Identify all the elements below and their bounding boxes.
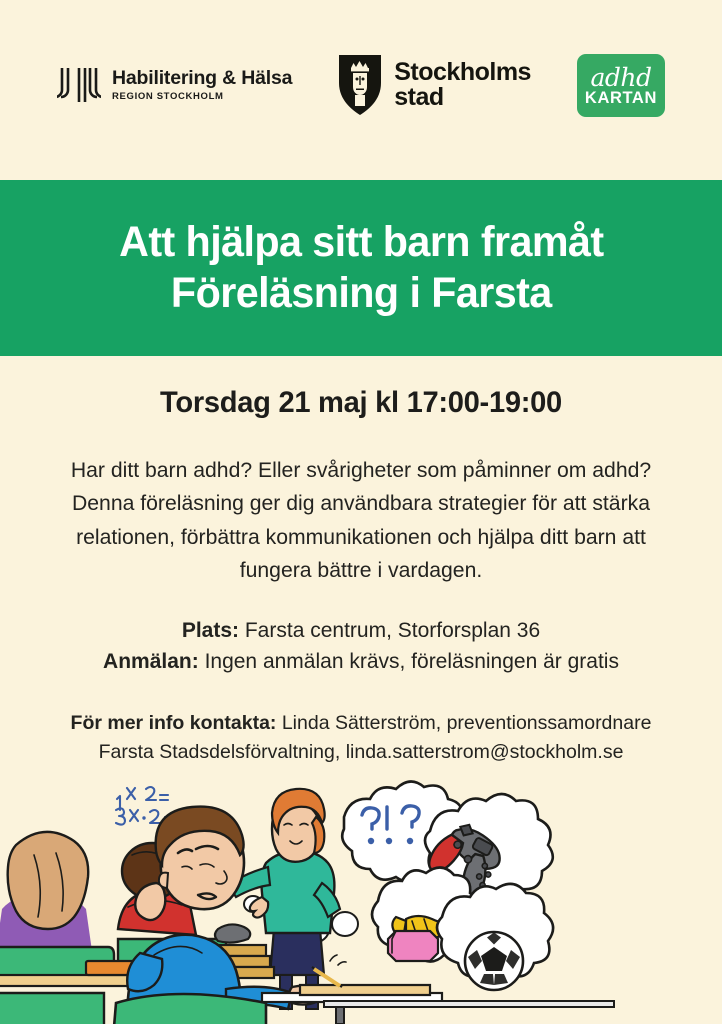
stockholms-stad-line1: Stockholms: [394, 60, 531, 86]
content-block: Torsdag 21 maj kl 17:00-19:00 Har ditt b…: [0, 356, 722, 766]
event-date-time: Torsdag 21 maj kl 17:00-19:00: [44, 386, 678, 420]
event-description: Har ditt barn adhd? Eller svårigheter so…: [39, 454, 683, 587]
detail-value-anmalan: Ingen anmälan krävs, föreläsningen är gr…: [205, 650, 619, 673]
adhd-kartan-word: KARTAN: [585, 90, 657, 107]
jll-mark-icon: [57, 66, 101, 104]
stockholms-stad-line2: stad: [394, 85, 531, 111]
poster: Habilitering & Hälsa REGION STOCKHOLM: [0, 0, 722, 1024]
detail-label-anmalan: Anmälan:: [103, 650, 199, 673]
blonde-girl-student: [0, 832, 92, 951]
habilitering-title: Habilitering & Hälsa: [112, 69, 292, 89]
title-banner: Att hjälpa sitt barn framåt Föreläsning …: [0, 180, 722, 356]
event-details: Plats: Farsta centrum, Storforsplan 36 A…: [34, 615, 688, 677]
detail-row-plats: Plats: Farsta centrum, Storforsplan 36: [34, 615, 688, 646]
logo-habilitering-halsa: Habilitering & Hälsa REGION STOCKHOLM: [57, 66, 292, 104]
contact-info: För mer info kontakta: Linda Sätterström…: [34, 709, 688, 766]
logo-bar: Habilitering & Hälsa REGION STOCKHOLM: [0, 0, 722, 176]
detail-value-plats: Farsta centrum, Storforsplan 36: [245, 619, 540, 642]
detail-label-plats: Plats:: [182, 619, 239, 642]
habilitering-subtitle: REGION STOCKHOLM: [112, 92, 292, 102]
banner-title-line2: Föreläsning i Farsta: [171, 268, 552, 319]
adhd-script-text: adhd: [590, 66, 651, 89]
logo-adhd-kartan: adhd KARTAN: [577, 54, 665, 117]
contact-label: För mer info kontakta:: [71, 712, 277, 734]
banner-title-line1: Att hjälpa sitt barn framåt: [119, 217, 603, 268]
saint-erik-shield-icon: [338, 54, 382, 116]
logo-stockholms-stad: Stockholms stad: [338, 54, 531, 116]
detail-row-anmalan: Anmälan: Ingen anmälan krävs, föreläsnin…: [34, 646, 688, 677]
classroom-illustration: .ln { fill:none; stroke:#1c1c1a; stroke-…: [0, 779, 722, 1024]
